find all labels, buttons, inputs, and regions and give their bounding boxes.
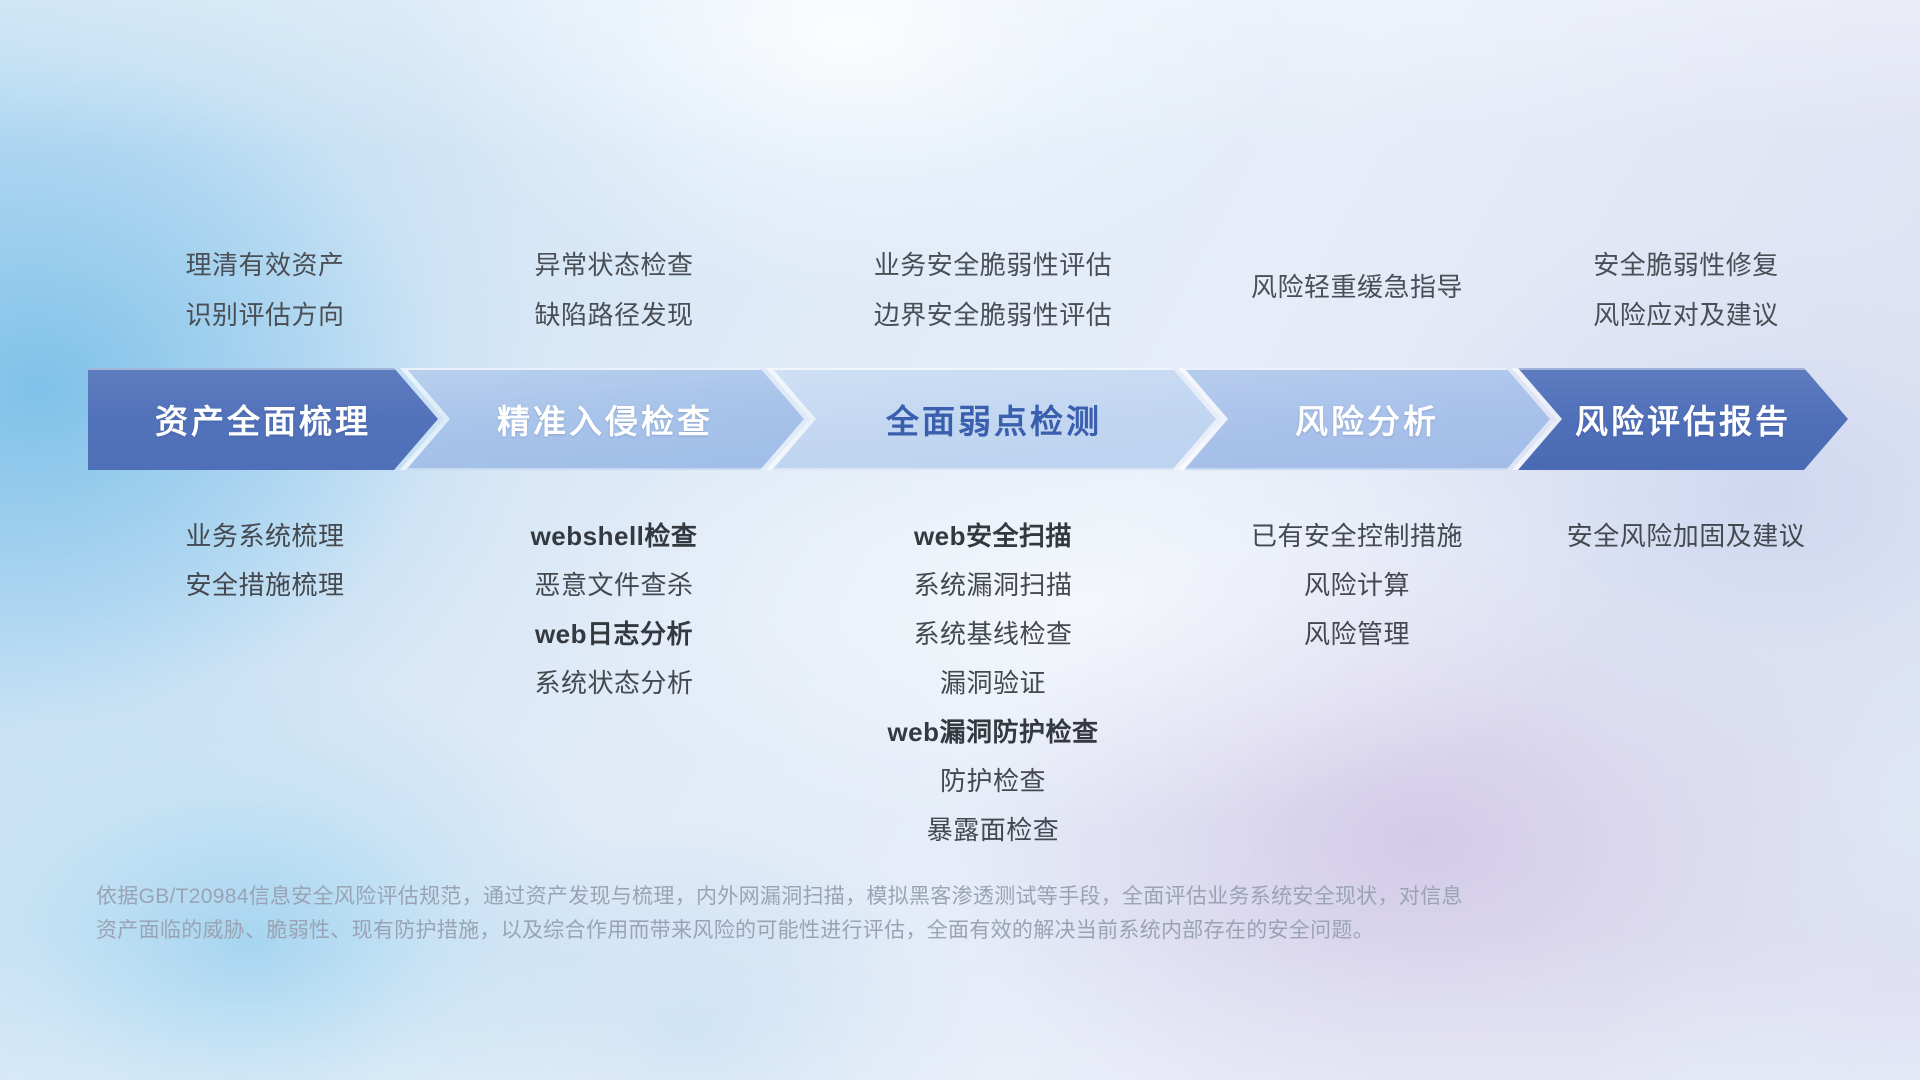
top-item: 业务安全脆弱性评估 — [793, 240, 1193, 290]
stage-top-items-asset-inventory: 理清有效资产 识别评估方向 — [95, 240, 435, 340]
footer-description: 依据GB/T20984信息安全风险评估规范，通过资产发现与梳理，内外网漏洞扫描，… — [96, 880, 1736, 948]
stage-bottom-items-weakness-detection: web安全扫描 系统漏洞扫描 系统基线检查 漏洞验证 web漏洞防护检查 防护检… — [793, 512, 1193, 855]
top-item: 理清有效资产 — [95, 240, 435, 290]
stage-label-weakness-detection: 全面弱点检测 — [886, 395, 1102, 443]
bottom-item: web日志分析 — [439, 610, 789, 659]
bottom-item: 防护检查 — [793, 757, 1193, 806]
top-item: 异常状态检查 — [439, 240, 789, 290]
top-item: 缺陷路径发现 — [439, 290, 789, 340]
bottom-item: 安全措施梳理 — [95, 561, 435, 610]
stage-chevron-asset-inventory[interactable]: 资产全面梳理 — [88, 368, 438, 470]
bottom-item: 业务系统梳理 — [95, 512, 435, 561]
bottom-item: 已有安全控制措施 — [1197, 512, 1517, 561]
bottom-item: 系统基线检查 — [793, 610, 1193, 659]
stage-label-asset-inventory: 资产全面梳理 — [155, 395, 371, 443]
stage-chevron-assessment-report[interactable]: 风险评估报告 — [1518, 368, 1848, 470]
stage-bottom-items-risk-analysis: 已有安全控制措施 风险计算 风险管理 — [1197, 512, 1517, 659]
bottom-item: 暴露面检查 — [793, 806, 1193, 855]
top-item: 风险轻重缓急指导 — [1197, 262, 1517, 312]
process-flow-band: 资产全面梳理 精准入侵检查 全面弱点检测 风险分析 风险评估报告 — [88, 368, 1848, 470]
bottom-item: 风险管理 — [1197, 610, 1517, 659]
stage-top-items-assessment-report: 安全脆弱性修复 风险应对及建议 — [1521, 240, 1851, 340]
slide-canvas: 理清有效资产 识别评估方向 业务系统梳理 安全措施梳理 异常状态检查 缺陷路径发… — [0, 0, 1920, 1080]
bottom-item: 系统状态分析 — [439, 659, 789, 708]
stage-chevron-intrusion-check[interactable]: 精准入侵检查 — [406, 368, 804, 470]
bottom-item: 系统漏洞扫描 — [793, 561, 1193, 610]
stage-bottom-items-asset-inventory: 业务系统梳理 安全措施梳理 — [95, 512, 435, 610]
bottom-item: 风险计算 — [1197, 561, 1517, 610]
bottom-item: web安全扫描 — [793, 512, 1193, 561]
stage-chevron-risk-analysis[interactable]: 风险分析 — [1184, 368, 1550, 470]
top-item: 风险应对及建议 — [1521, 290, 1851, 340]
stage-label-risk-analysis: 风险分析 — [1295, 395, 1439, 443]
bottom-item: 漏洞验证 — [793, 659, 1193, 708]
bottom-item: 安全风险加固及建议 — [1521, 512, 1851, 561]
stage-label-assessment-report: 风险评估报告 — [1575, 395, 1791, 443]
stage-bottom-items-intrusion-check: webshell检查 恶意文件查杀 web日志分析 系统状态分析 — [439, 512, 789, 708]
stage-chevron-weakness-detection[interactable]: 全面弱点检测 — [772, 368, 1216, 470]
stage-top-items-weakness-detection: 业务安全脆弱性评估 边界安全脆弱性评估 — [793, 240, 1193, 340]
stage-label-intrusion-check: 精准入侵检查 — [497, 395, 713, 443]
stage-top-items-intrusion-check: 异常状态检查 缺陷路径发现 — [439, 240, 789, 340]
top-item: 识别评估方向 — [95, 290, 435, 340]
top-item: 安全脆弱性修复 — [1521, 240, 1851, 290]
bottom-item: web漏洞防护检查 — [793, 708, 1193, 757]
stage-top-items-risk-analysis: 风险轻重缓急指导 — [1197, 262, 1517, 312]
bottom-item: webshell检查 — [439, 512, 789, 561]
stage-bottom-items-assessment-report: 安全风险加固及建议 — [1521, 512, 1851, 561]
top-item: 边界安全脆弱性评估 — [793, 290, 1193, 340]
footer-line-2: 资产面临的威胁、脆弱性、现有防护措施，以及综合作用而带来风险的可能性进行评估，全… — [96, 914, 1736, 948]
bottom-item: 恶意文件查杀 — [439, 561, 789, 610]
footer-line-1: 依据GB/T20984信息安全风险评估规范，通过资产发现与梳理，内外网漏洞扫描，… — [96, 880, 1736, 914]
